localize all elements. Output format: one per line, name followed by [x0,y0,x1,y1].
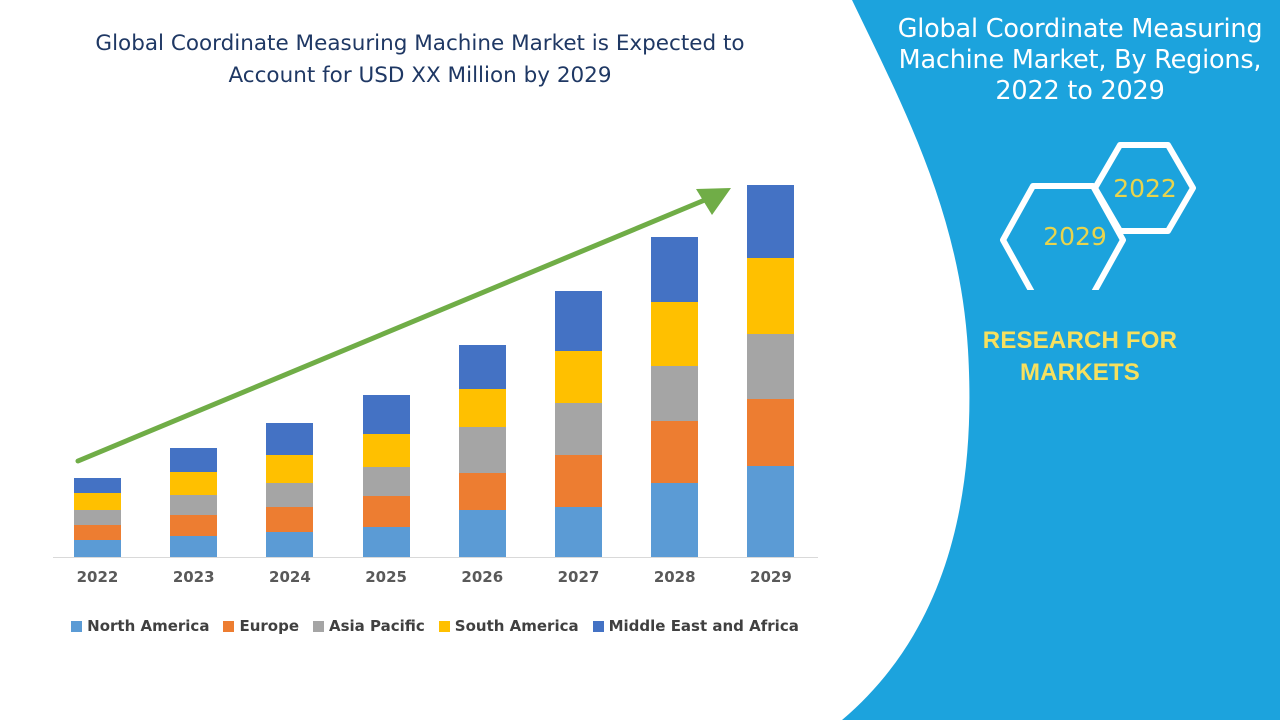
bar-column [651,0,698,557]
bar-column [170,0,217,557]
bar-segment [459,473,506,510]
bar-segment [555,455,602,507]
bar-segment [74,493,121,510]
bar-segment [170,448,217,472]
bar-segment [266,423,313,455]
legend-label: South America [455,617,579,635]
bar-segment [266,532,313,557]
bar-segment [363,467,410,496]
bar-segment [651,366,698,421]
bar-segment [555,291,602,351]
bar-stack [266,423,313,557]
bar-stack [651,237,698,557]
bar-segment [170,515,217,536]
bar-column [747,0,794,557]
bar-segment [170,536,217,557]
x-axis-tick-label: 2028 [635,568,715,586]
bar-segment [363,434,410,467]
bar-stack [747,185,794,557]
bar-segment [363,395,410,434]
x-axis-tick-label: 2026 [442,568,522,586]
chart-plot-area: 20222023202420252026202720282029 [0,0,840,600]
bar-segment [747,334,794,399]
bar-segment [266,507,313,532]
x-axis-tick-label: 2025 [346,568,426,586]
bar-segment [555,351,602,403]
legend-item[interactable]: Asia Pacific [313,617,425,635]
hexagon-group: 2029 2022 [880,140,1280,290]
legend-swatch-icon [71,621,82,632]
bar-group [0,0,840,557]
legend-swatch-icon [223,621,234,632]
legend-item[interactable]: Middle East and Africa [593,617,799,635]
x-axis-tick-label: 2027 [539,568,619,586]
bar-segment [555,507,602,557]
bar-segment [74,478,121,493]
legend-swatch-icon [313,621,324,632]
bar-stack [170,448,217,557]
infographic-slide: Global Coordinate Measuring Machine Mark… [0,0,1280,720]
x-axis-tick-label: 2023 [154,568,234,586]
hexagon-2029-label: 2029 [1043,222,1107,251]
bar-segment [651,421,698,483]
bar-segment [266,483,313,507]
bar-stack [363,395,410,557]
bar-segment [651,237,698,302]
legend-label: Asia Pacific [329,617,425,635]
legend-swatch-icon [593,621,604,632]
bar-segment [747,258,794,334]
bar-segment [363,527,410,557]
bar-segment [459,345,506,389]
legend-item[interactable]: North America [71,617,209,635]
bar-segment [170,472,217,495]
legend-label: Middle East and Africa [609,617,799,635]
bar-segment [747,466,794,557]
bar-segment [555,403,602,455]
bar-stack [555,291,602,557]
bar-segment [459,389,506,427]
bar-segment [651,302,698,366]
legend-swatch-icon [439,621,450,632]
x-axis-tick-label: 2022 [58,568,138,586]
hexagon-2022-label: 2022 [1113,174,1177,203]
bar-column [266,0,313,557]
bar-segment [266,455,313,483]
x-axis-labels: 20222023202420252026202720282029 [0,568,840,598]
legend-item[interactable]: South America [439,617,579,635]
bar-segment [651,483,698,557]
bar-segment [363,496,410,527]
x-axis-tick-label: 2029 [731,568,811,586]
bar-segment [459,427,506,473]
brand-line-2: MARKETS [1020,359,1140,386]
legend-label: Europe [239,617,299,635]
brand-wordmark: RESEARCH FOR MARKETS [890,325,1270,389]
hexagon-2022: 2022 [1095,145,1193,231]
bar-segment [74,525,121,540]
bar-segment [170,495,217,515]
bar-segment [747,399,794,466]
brand-line-1: RESEARCH FOR [983,327,1177,354]
bar-segment [459,510,506,557]
x-axis-line [53,557,818,558]
chart-legend: North AmericaEuropeAsia PacificSouth Ame… [40,617,830,635]
bar-segment [74,510,121,525]
bar-column [74,0,121,557]
legend-item[interactable]: Europe [223,617,299,635]
bar-column [459,0,506,557]
bar-column [363,0,410,557]
bar-segment [747,185,794,258]
hexagons-svg: 2029 2022 [880,140,1280,290]
legend-label: North America [87,617,209,635]
panel-title: Global Coordinate Measuring Machine Mark… [890,14,1270,107]
bar-stack [74,478,121,557]
bar-stack [459,345,506,557]
bar-column [555,0,602,557]
x-axis-tick-label: 2024 [250,568,330,586]
panel-content: Global Coordinate Measuring Machine Mark… [880,0,1280,720]
bar-segment [74,540,121,557]
